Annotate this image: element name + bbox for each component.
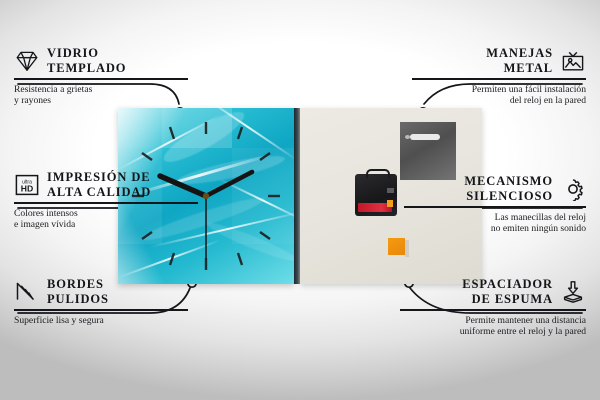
divider [400, 309, 586, 311]
feature-title: ESPACIADOR DE ESPUMA [462, 277, 553, 306]
feature-title: IMPRESIÓN DE ALTA CALIDAD [47, 170, 151, 199]
gear-icon [560, 177, 586, 201]
divider [412, 78, 586, 80]
feature-impresion-alta-calidad: ultra HD IMPRESIÓN DE ALTA CALIDAD Color… [14, 170, 198, 231]
metal-hanger-plate [400, 122, 456, 180]
feature-title: MECANISMO SILENCIOSO [464, 174, 553, 203]
feature-description: Superficie lisa y segura [14, 315, 188, 327]
divider [14, 309, 188, 311]
feature-bordes-pulidos: BORDES PULIDOS Superficie lisa y segura [14, 277, 188, 326]
picture-frame-icon [560, 49, 586, 73]
divider [404, 206, 586, 208]
feature-manejas-metal: MANEJAS METAL Permiten una fácil instala… [412, 46, 586, 107]
feature-title: MANEJAS METAL [486, 46, 553, 75]
foam-spacer-icon [560, 280, 586, 304]
ultra-hd-icon: ultra HD [14, 173, 40, 197]
clock-mechanism [355, 174, 397, 216]
diamond-icon [14, 49, 40, 73]
divider [14, 78, 188, 80]
divider [14, 202, 198, 204]
feature-description: Permite mantener una distancia uniforme … [400, 315, 586, 338]
feature-description: Las manecillas del reloj no emiten ningú… [404, 212, 586, 235]
feature-description: Permiten una fácil instalación del reloj… [412, 84, 586, 107]
feature-espaciador-espuma: ESPACIADOR DE ESPUMA Permite mantener un… [400, 277, 586, 338]
foam-spacer [388, 238, 405, 255]
feature-description: Resistencia a grietas y rayones [14, 84, 188, 107]
feature-mecanismo-silencioso: MECANISMO SILENCIOSO Las manecillas del … [404, 174, 586, 235]
svg-text:HD: HD [21, 183, 33, 193]
feature-vidrio-templado: VIDRIO TEMPLADO Resistencia a grietas y … [14, 46, 188, 107]
polished-edge-icon [14, 280, 40, 304]
infographic-canvas: VIDRIO TEMPLADO Resistencia a grietas y … [0, 0, 600, 400]
feature-title: VIDRIO TEMPLADO [47, 46, 126, 75]
feature-title: BORDES PULIDOS [47, 277, 109, 306]
battery [358, 203, 392, 212]
feature-description: Colores intensos e imagen vívida [14, 208, 198, 231]
